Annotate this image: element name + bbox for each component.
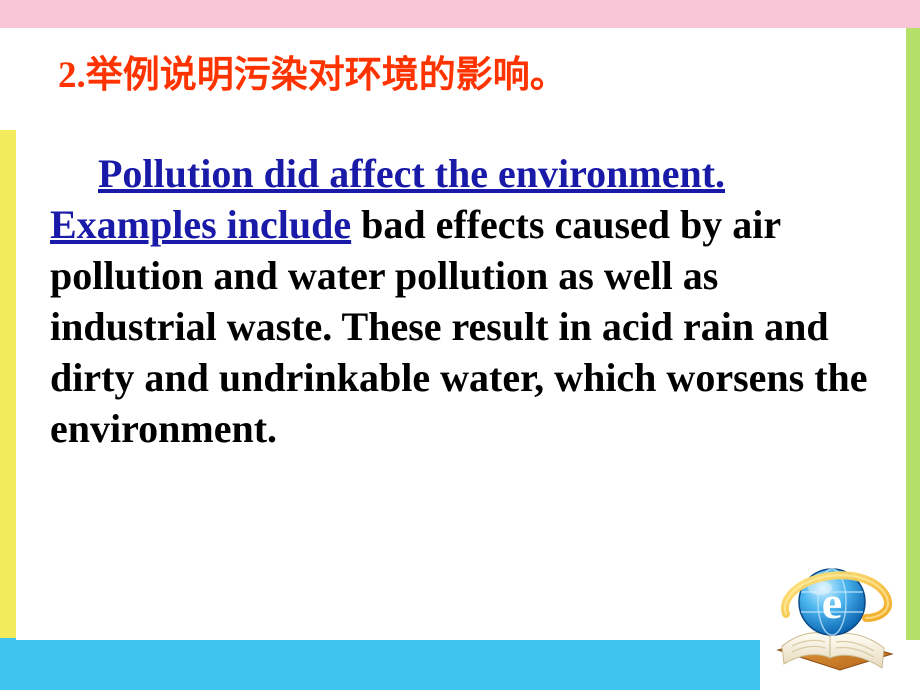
decor-right-green-bar xyxy=(906,28,920,640)
body-paragraph: Pollution did affect the environment. Ex… xyxy=(50,148,880,454)
svg-text:e: e xyxy=(822,577,842,628)
decor-top-pink-band xyxy=(0,0,920,28)
page-title: 2.举例说明污染对环境的影响。 xyxy=(58,44,567,98)
internet-explorer-book-icon[interactable]: e xyxy=(770,558,900,678)
internet-explorer-book-icon-graphic: e xyxy=(770,558,900,678)
link-text-sentence-two[interactable]: Examples include xyxy=(50,202,351,247)
decor-left-yellow-bar xyxy=(0,130,16,680)
slide-canvas: 2.举例说明污染对环境的影响。 Pollution did affect the… xyxy=(0,0,920,690)
link-text-sentence-one[interactable]: Pollution did affect the environment. xyxy=(98,151,725,196)
